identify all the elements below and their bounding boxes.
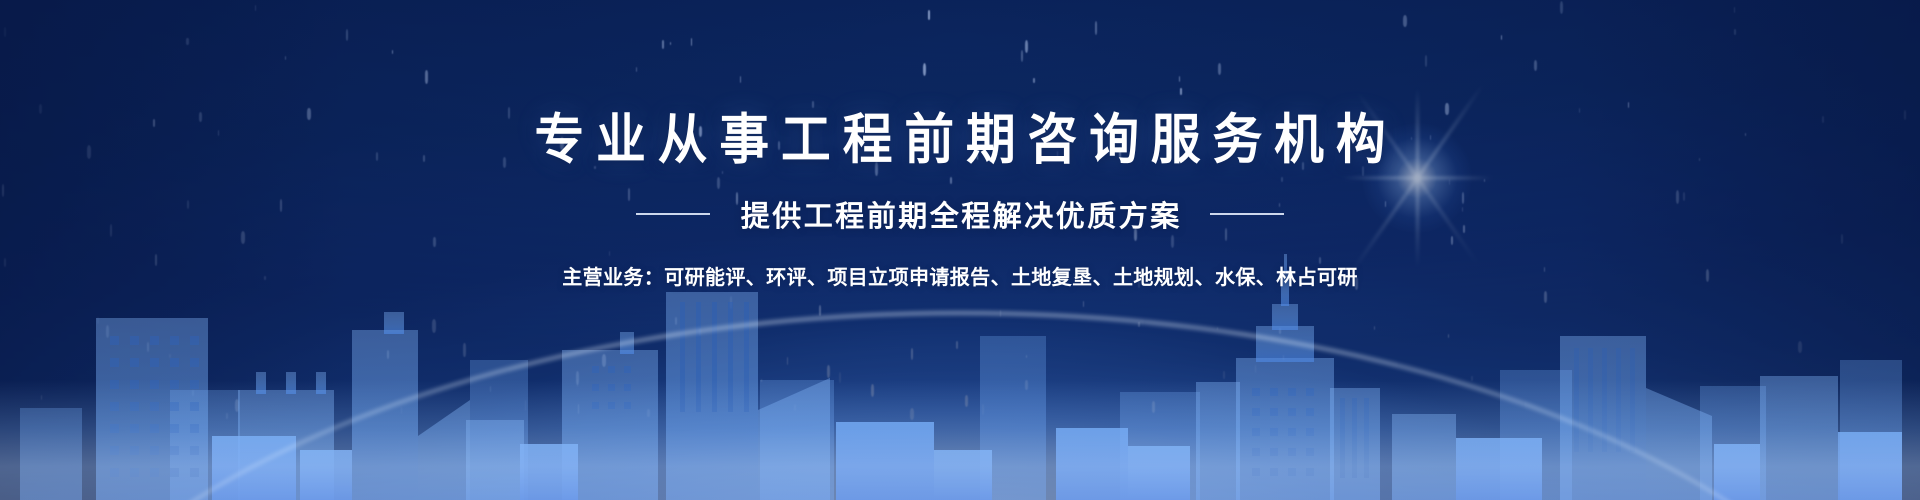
banner-content: 专业从事工程前期咨询服务机构 提供工程前期全程解决优质方案 主营业务：可研能评、… bbox=[0, 0, 1920, 290]
banner-tagline: 主营业务：可研能评、环评、项目立项申请报告、土地复垦、土地规划、水保、林占可研 bbox=[0, 261, 1920, 290]
hero-banner: 专业从事工程前期咨询服务机构 提供工程前期全程解决优质方案 主营业务：可研能评、… bbox=[0, 0, 1920, 500]
banner-title: 专业从事工程前期咨询服务机构 bbox=[77, 112, 1843, 169]
left-rule-icon bbox=[636, 213, 710, 215]
right-rule-icon bbox=[1210, 213, 1284, 215]
banner-subtitle: 提供工程前期全程解决优质方案 bbox=[738, 193, 1182, 235]
banner-subtitle-row: 提供工程前期全程解决优质方案 bbox=[0, 193, 1920, 235]
